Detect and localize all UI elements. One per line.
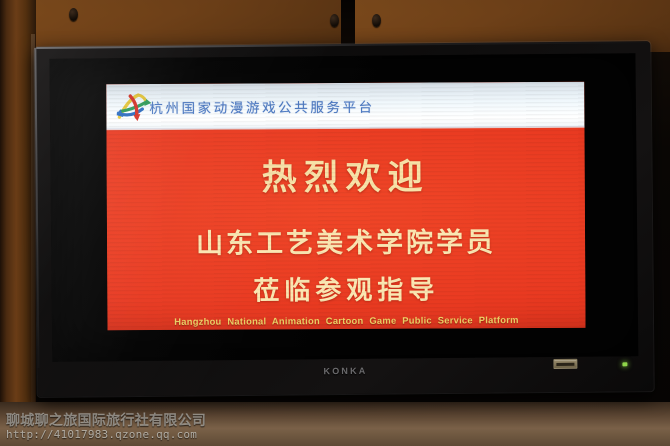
tv-brand-label: KONKA (323, 366, 367, 376)
slide-visit-phrase: 莅临参观指导 (107, 269, 585, 309)
power-led-indicator (622, 362, 627, 366)
television: KONKA LED (34, 41, 653, 397)
slide-visiting-group: 山东工艺美术学院学员 (107, 220, 585, 262)
floor-strip (0, 402, 670, 446)
slide-english-subtitle: Hangzhou National Animation Cartoon Game… (107, 314, 585, 328)
hangzhou-animation-platform-logo-icon (112, 87, 152, 127)
slide-welcome-heading: 热烈欢迎 (107, 148, 585, 202)
slide-body: 热烈欢迎 山东工艺美术学院学员 莅临参观指导 Hangzhou National… (106, 128, 585, 331)
cabinet-knob (330, 14, 339, 27)
presentation-slide: 杭州国家动漫游戏公共服务平台 热烈欢迎 山东工艺美术学院学员 莅临参观指导 Ha… (106, 82, 585, 330)
cabinet-knob (69, 8, 78, 21)
cabinet-knob (372, 14, 381, 27)
tv-sticker (553, 359, 577, 369)
tv-screen: 杭州国家动漫游戏公共服务平台 热烈欢迎 山东工艺美术学院学员 莅临参观指导 Ha… (49, 53, 638, 362)
slide-header-band: 杭州国家动漫游戏公共服务平台 (106, 82, 584, 131)
slide-organization-title: 杭州国家动漫游戏公共服务平台 (149, 96, 375, 117)
photograph: KONKA LED (0, 0, 670, 446)
